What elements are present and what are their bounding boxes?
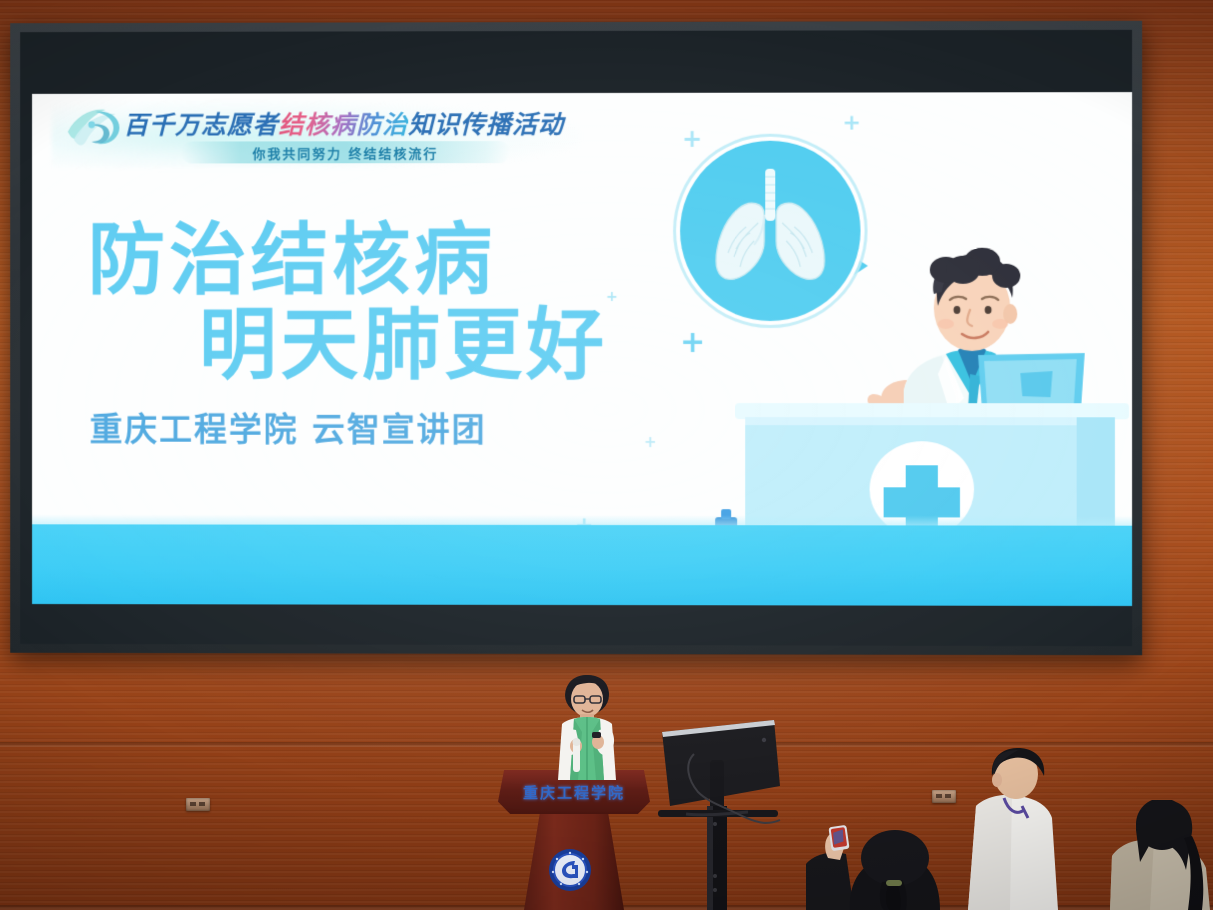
lecture-hall-photo: 百千万志愿者结核病防治知识传播活动 你我共同努力 终结结核流行 防治结核病 明天…	[0, 0, 1213, 910]
photo-vignette	[0, 0, 1213, 910]
